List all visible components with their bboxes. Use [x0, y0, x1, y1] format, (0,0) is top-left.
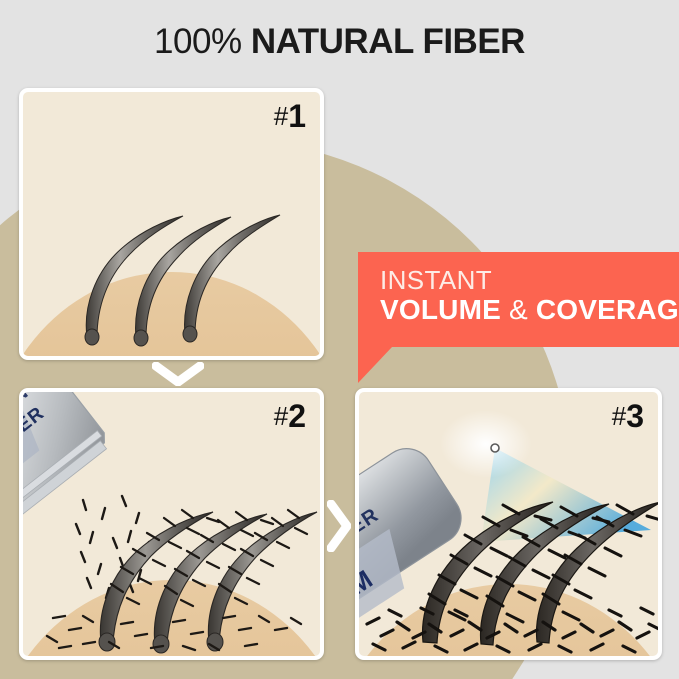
nozzle-glow [440, 410, 532, 478]
banner-coverage-text: COVERAGE [536, 294, 679, 325]
banner-line-instant: INSTANT [380, 266, 679, 294]
scalp-fiber-mat [367, 608, 661, 652]
step-digit: 1 [288, 98, 306, 134]
scalp-scattered-fibers [47, 616, 301, 650]
fiber-coated-strands [99, 512, 317, 653]
title-bold-part: NATURAL FIBER [251, 22, 525, 61]
nozzle-opening [491, 444, 499, 452]
hash-symbol: # [612, 401, 626, 431]
title-light-part: 100% [154, 22, 242, 61]
chevron-down-icon [152, 362, 204, 386]
step-panel-3: SUPER HM [355, 388, 662, 660]
shaker-bottle: SUPER MILLION [23, 392, 113, 526]
step-digit: 3 [626, 398, 644, 434]
banner-ampersand: & [509, 294, 528, 325]
step-number-3: #3 [612, 399, 644, 433]
step-digit: 2 [288, 398, 306, 434]
chevron-right-icon [327, 500, 351, 552]
promo-banner: INSTANT VOLUME & COVERAGE [358, 252, 679, 347]
step-panel-2: SUPER MILLION [19, 388, 324, 660]
page-title: 100% NATURAL FIBER [0, 22, 679, 62]
hash-symbol: # [274, 401, 288, 431]
step-panel-1: #1 [19, 88, 324, 360]
banner-line-volume-coverage: VOLUME & COVERAGE [380, 294, 679, 326]
hair-strand-group [85, 215, 280, 346]
step-number-1: #1 [274, 99, 306, 133]
infographic-stage: 100% NATURAL FIBER [0, 0, 679, 679]
banner-volume-text: VOLUME [380, 294, 501, 325]
hash-symbol: # [274, 101, 288, 131]
banner-tail [358, 347, 392, 383]
step-number-2: #2 [274, 399, 306, 433]
